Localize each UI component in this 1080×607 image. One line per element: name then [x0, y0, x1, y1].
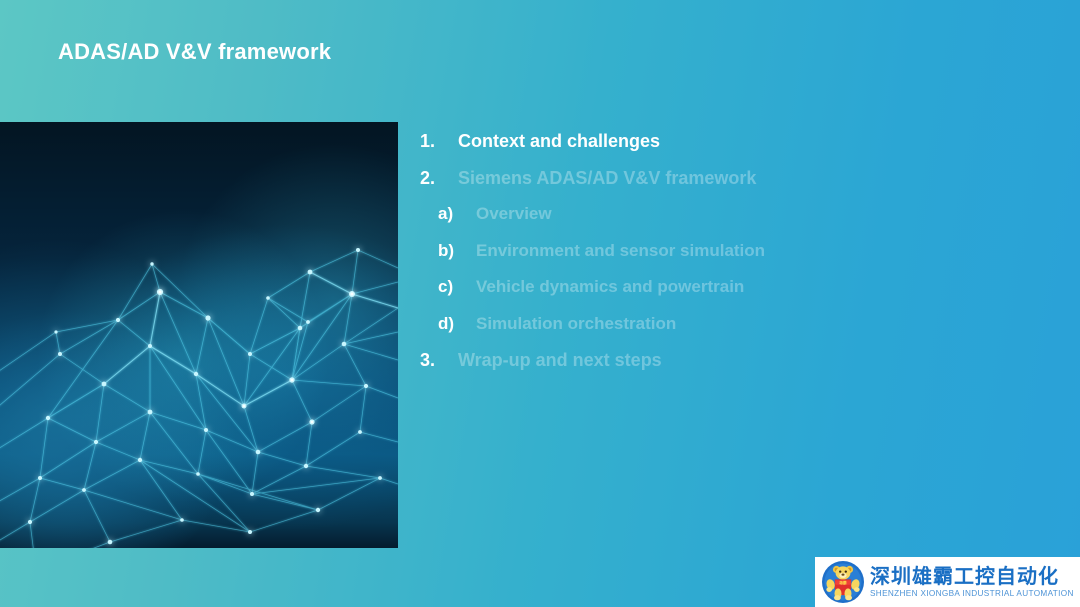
agenda-item-vehicle-dynamics-and-powertrain[interactable]: c) Vehicle dynamics and powertrain — [420, 277, 1020, 314]
agenda-marker: 3. — [420, 350, 458, 371]
agenda-item-simulation-orchestration[interactable]: d) Simulation orchestration — [420, 314, 1020, 351]
agenda-label: Context and challenges — [458, 131, 660, 152]
agenda-label: Vehicle dynamics and powertrain — [476, 277, 744, 297]
agenda-marker: d) — [438, 314, 476, 334]
agenda-item-overview[interactable]: a) Overview — [420, 204, 1020, 241]
agenda-marker: a) — [438, 204, 476, 224]
agenda-marker: 1. — [420, 131, 458, 152]
agenda-label: Overview — [476, 204, 552, 224]
agenda-label: Environment and sensor simulation — [476, 241, 765, 261]
logo-company-name-cn: 深圳雄霸工控自动化 — [870, 566, 1080, 587]
agenda-item-wrap-up-and-next-steps[interactable]: 3. Wrap-up and next steps — [420, 350, 1020, 387]
agenda-label: Wrap-up and next steps — [458, 350, 662, 371]
agenda-item-context-and-challenges[interactable]: 1. Context and challenges — [420, 131, 1020, 168]
network-mesh-svg — [0, 122, 398, 548]
logo-text-block: 深圳雄霸工控自动化 SHENZHEN XIONGBA INDUSTRIAL AU… — [865, 566, 1080, 599]
agenda-label: Simulation orchestration — [476, 314, 676, 334]
agenda-label: Siemens ADAS/AD V&V framework — [458, 168, 756, 189]
agenda-item-environment-and-sensor-simulation[interactable]: b) Environment and sensor simulation — [420, 241, 1020, 278]
agenda-marker: 2. — [420, 168, 458, 189]
company-logo-watermark: 雄霸 深圳雄霸工控自动化 SHENZHEN XIONGBA INDUSTRIAL… — [815, 557, 1080, 607]
presentation-slide: ADAS/AD V&V framework — [0, 0, 1080, 607]
agenda-list: 1. Context and challenges 2. Siemens ADA… — [420, 131, 1020, 387]
agenda-marker: c) — [438, 277, 476, 297]
agenda-marker: b) — [438, 241, 476, 261]
network-visualization-image — [0, 122, 398, 548]
page-title: ADAS/AD V&V framework — [58, 39, 331, 65]
svg-text:雄霸: 雄霸 — [838, 580, 847, 585]
agenda-item-siemens-framework[interactable]: 2. Siemens ADAS/AD V&V framework — [420, 168, 1020, 205]
logo-company-name-en: SHENZHEN XIONGBA INDUSTRIAL AUTOMATION — [870, 589, 1080, 599]
bear-mascot-icon: 雄霸 — [821, 560, 865, 604]
